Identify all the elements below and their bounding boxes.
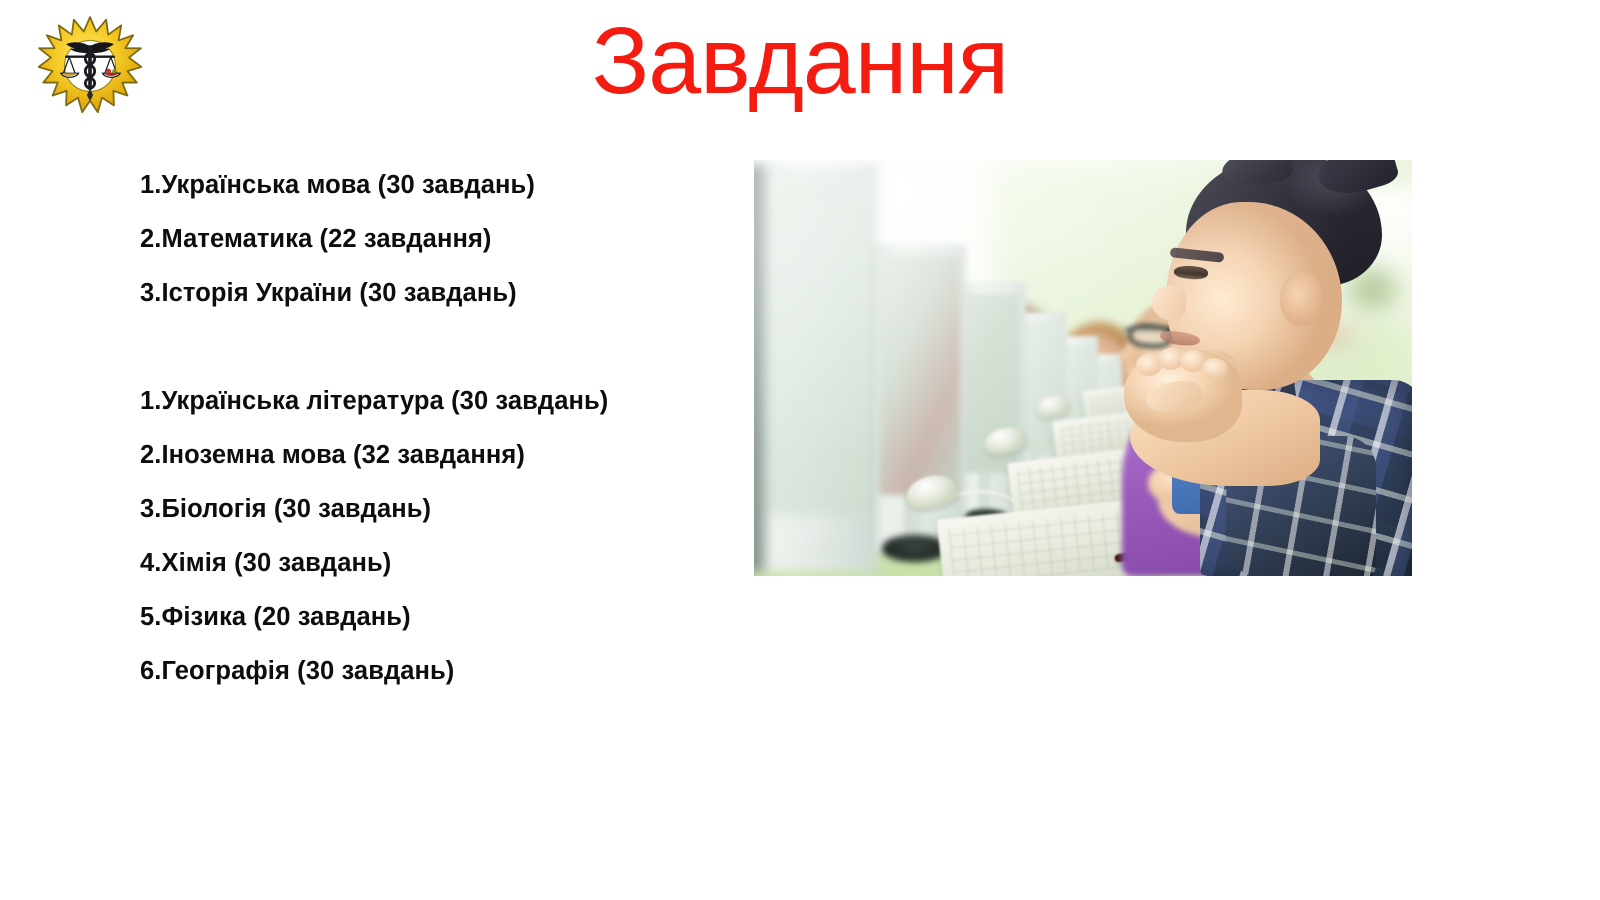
photo-monitor-1 bbox=[754, 164, 878, 572]
list-item: 3.Біологія (30 завдань) bbox=[140, 482, 740, 536]
list-item-label: Українська література (30 завдань) bbox=[161, 387, 608, 415]
list-item-number: 3. bbox=[140, 495, 161, 523]
list-item-label: Іноземна мова (32 завдання) bbox=[161, 441, 525, 469]
list-item: 5.Фізика (20 завдань) bbox=[140, 590, 740, 644]
subject-list-block-one: 1.Українська мова (30 завдань) 2.Математ… bbox=[140, 158, 740, 320]
list-item-number: 3. bbox=[140, 279, 161, 307]
list-item-label: Історія України (30 завдань) bbox=[161, 279, 516, 307]
list-item: 1.Українська мова (30 завдань) bbox=[140, 158, 740, 212]
list-item-number: 2. bbox=[140, 441, 161, 469]
slide-canvas: Завдання 1.Українська мова (30 завдань) … bbox=[0, 0, 1600, 900]
page-title: Завдання bbox=[0, 14, 1600, 109]
list-item-label: Біологія (30 завдань) bbox=[161, 495, 431, 523]
list-item-number: 6. bbox=[140, 657, 161, 685]
students-in-computer-lab-photo bbox=[754, 160, 1412, 576]
subject-list-block-two: 1.Українська література (30 завдань) 2.І… bbox=[140, 374, 740, 698]
list-item-number: 1. bbox=[140, 171, 161, 199]
list-item: 1.Українська література (30 завдань) bbox=[140, 374, 740, 428]
list-item-label: Фізика (20 завдань) bbox=[161, 603, 410, 631]
list-item: 2.Іноземна мова (32 завдання) bbox=[140, 428, 740, 482]
photo-student-foreground-boy bbox=[1130, 160, 1412, 576]
list-item: 4.Хімія (30 завдань) bbox=[140, 536, 740, 590]
list-item: 2.Математика (22 завдання) bbox=[140, 212, 740, 266]
list-item-number: 2. bbox=[140, 225, 161, 253]
list-item: 6.Географія (30 завдань) bbox=[140, 644, 740, 698]
list-item-label: Математика (22 завдання) bbox=[161, 225, 491, 253]
list-item-number: 4. bbox=[140, 549, 161, 577]
list-item-label: Хімія (30 завдань) bbox=[161, 549, 391, 577]
list-item-label: Географія (30 завдань) bbox=[161, 657, 454, 685]
list-item: 3.Історія України (30 завдань) bbox=[140, 266, 740, 320]
list-item-label: Українська мова (30 завдань) bbox=[161, 171, 534, 199]
list-item-number: 1. bbox=[140, 387, 161, 415]
subject-lists: 1.Українська мова (30 завдань) 2.Математ… bbox=[140, 158, 740, 698]
list-item-number: 5. bbox=[140, 603, 161, 631]
